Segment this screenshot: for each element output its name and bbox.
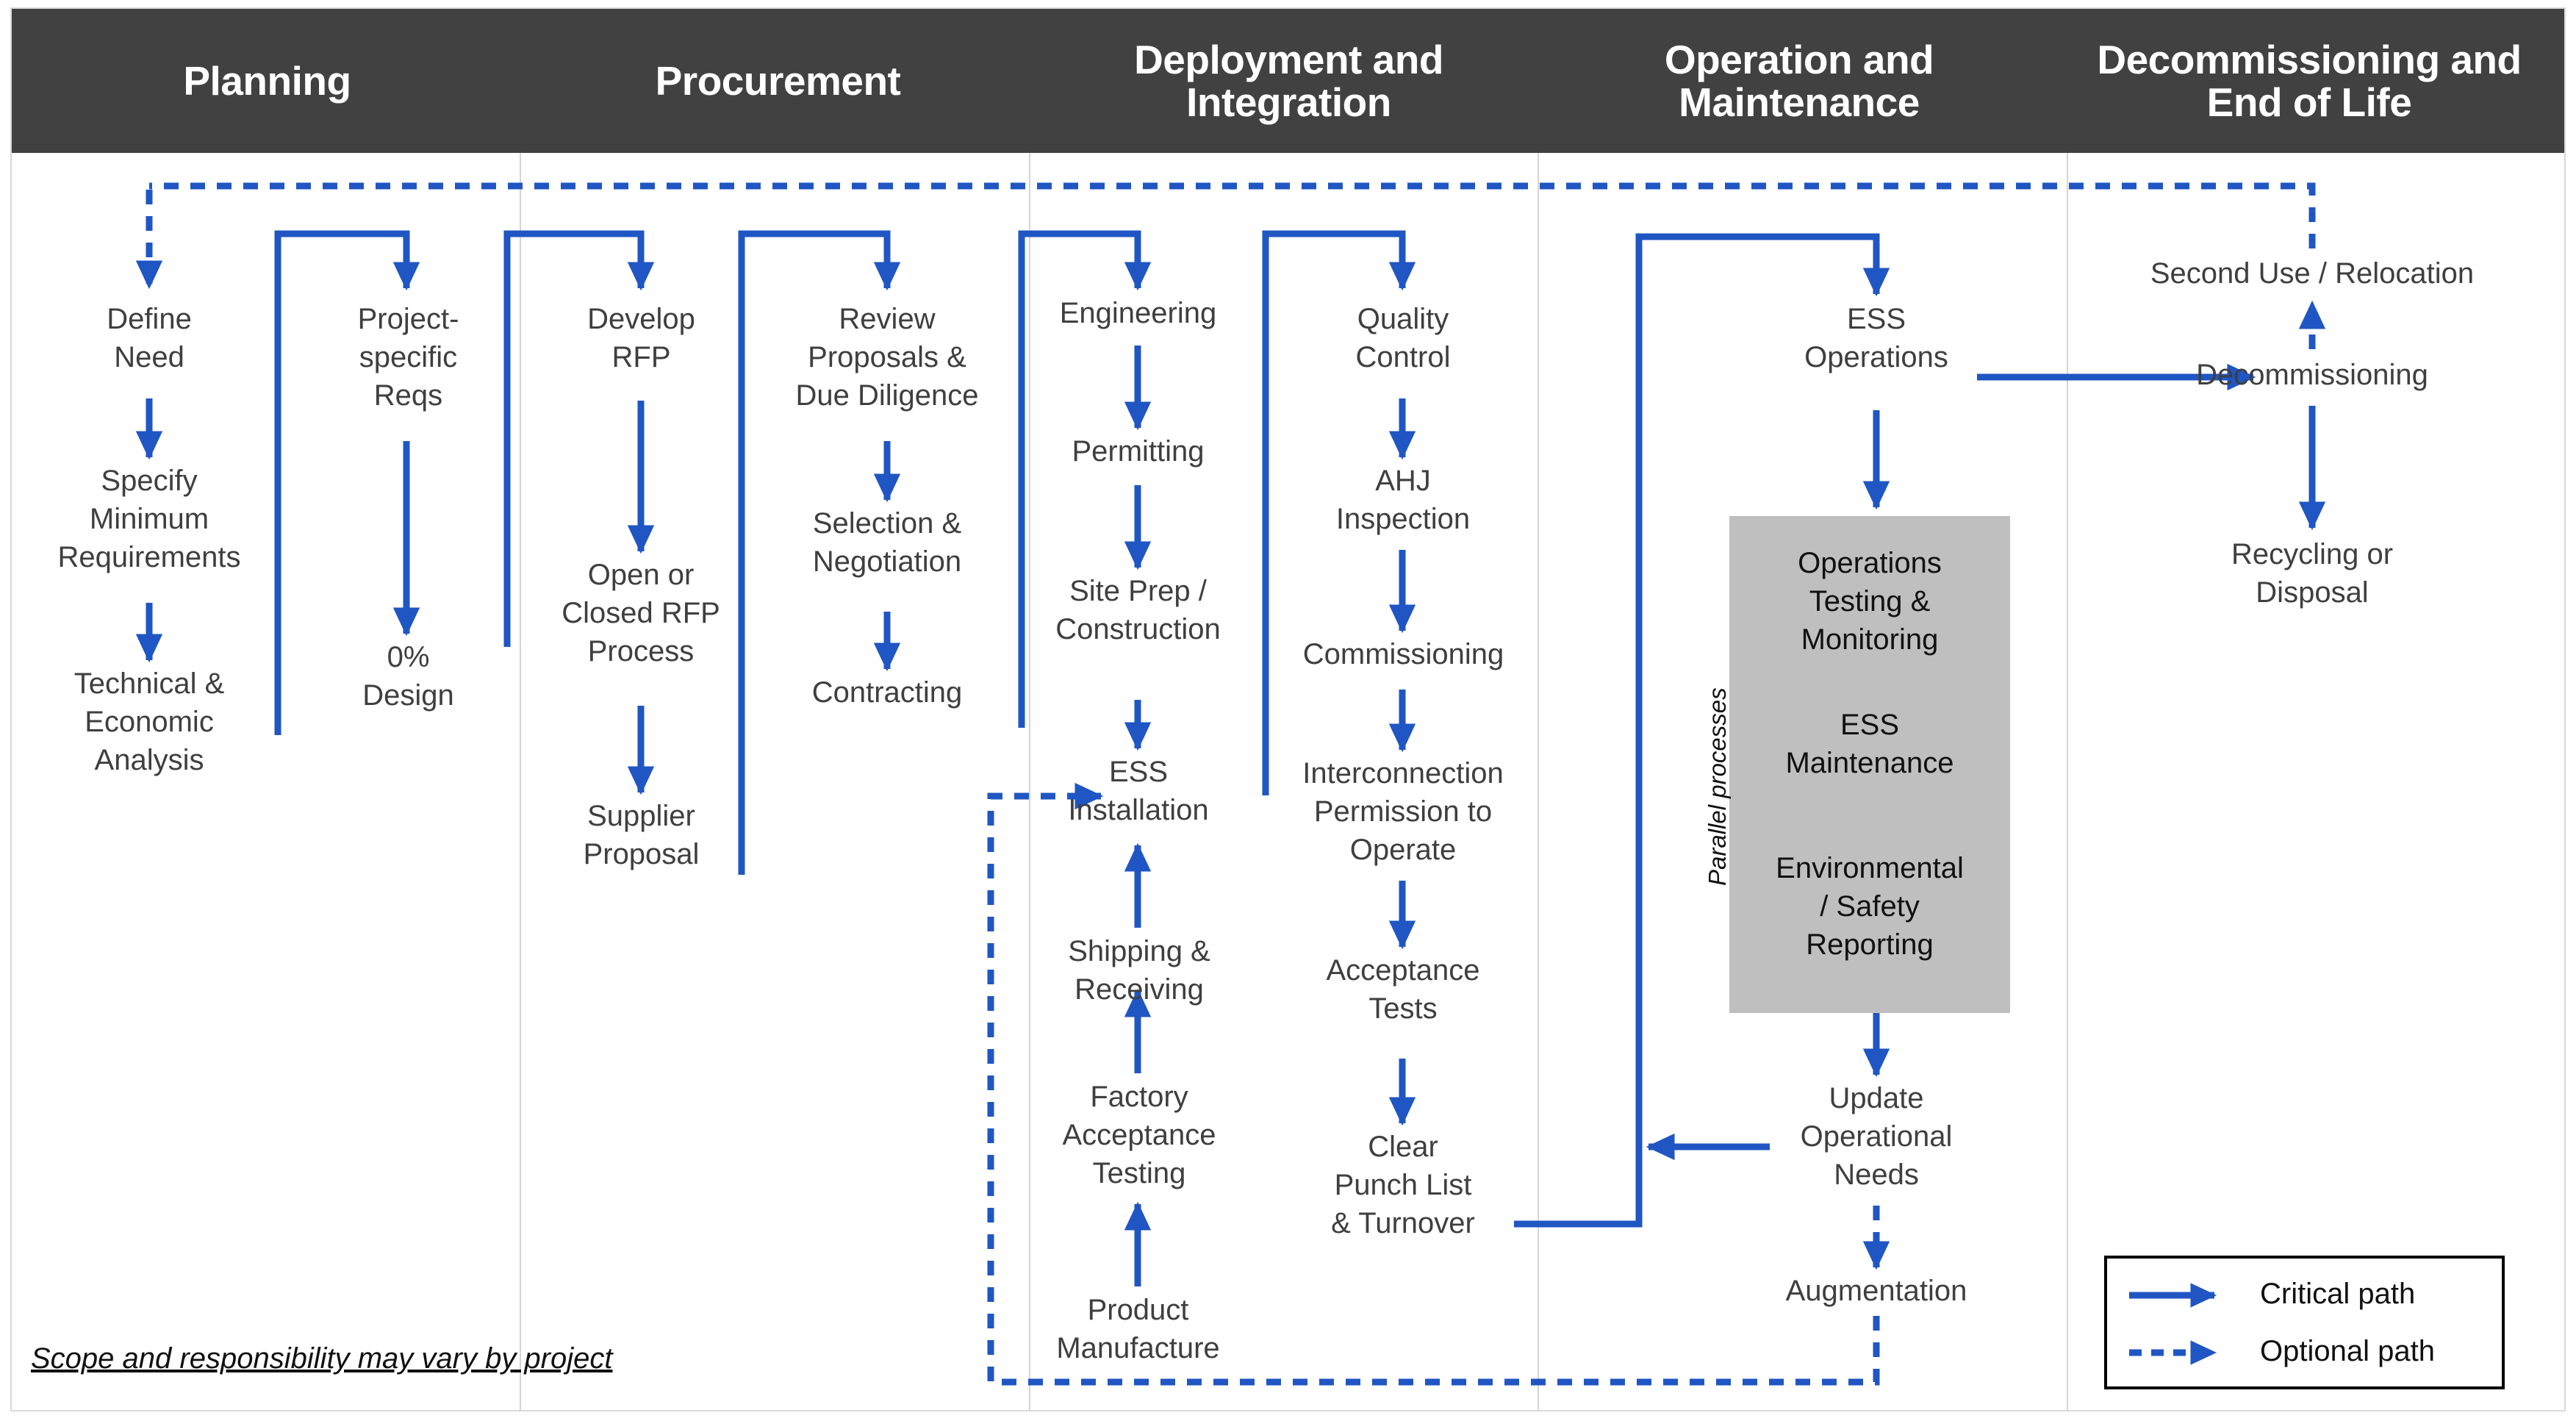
node-environmental-safety-reporting[interactable]: Environmental / Safety Reporting: [1744, 849, 1995, 964]
node-develop-rfp[interactable]: Develop RFP: [544, 300, 739, 376]
phase-header-deployment[interactable]: Deployment and Integration: [1033, 9, 1544, 153]
node-update-operational-needs[interactable]: Update Operational Needs: [1766, 1079, 1987, 1194]
phase-header-procurement[interactable]: Procurement: [523, 9, 1033, 153]
node-site-prep-construction[interactable]: Site Prep / Construction: [1026, 572, 1250, 648]
node-review-proposals-due-diligence[interactable]: Review Proposals & Due Diligence: [766, 300, 1008, 415]
footnote-scope-responsibility: Scope and responsibility may vary by pro…: [31, 1342, 612, 1375]
legend-label-optional-path: Optional path: [2260, 1335, 2435, 1368]
node-selection-negotiation[interactable]: Selection & Negotiation: [773, 504, 1001, 581]
node-project-specific-reqs[interactable]: Project- specific Reqs: [315, 300, 502, 415]
legend-label-critical-path: Critical path: [2260, 1278, 2415, 1311]
node-operations-testing-monitoring[interactable]: Operations Testing & Monitoring: [1744, 544, 1995, 659]
node-contracting[interactable]: Contracting: [773, 673, 1001, 712]
phase-header-band: Planning Procurement Deployment and Inte…: [12, 9, 2564, 153]
node-permitting[interactable]: Permitting: [1026, 432, 1250, 470]
node-ess-installation[interactable]: ESS Installation: [1039, 753, 1238, 829]
node-supplier-proposal[interactable]: Supplier Proposal: [544, 797, 739, 873]
phase-header-operation[interactable]: Operation and Maintenance: [1544, 9, 2054, 153]
node-ess-operations[interactable]: ESS Operations: [1777, 300, 1976, 376]
legend-box: Critical path Optional path: [2104, 1256, 2505, 1389]
node-technical-economic-analysis[interactable]: Technical & Economic Analysis: [28, 665, 270, 779]
node-ahj-inspection[interactable]: AHJ Inspection: [1307, 462, 1499, 538]
node-commissioning[interactable]: Commissioning: [1277, 635, 1530, 673]
lane-divider-procurement-deployment: [1029, 153, 1030, 1411]
node-second-use-relocation[interactable]: Second Use / Relocation: [2099, 254, 2525, 293]
node-acceptance-tests[interactable]: Acceptance Tests: [1294, 951, 1513, 1028]
lane-divider-planning-procurement: [520, 153, 521, 1411]
node-clear-punch-list-turnover[interactable]: Clear Punch List & Turnover: [1294, 1128, 1513, 1242]
node-engineering[interactable]: Engineering: [1026, 294, 1250, 332]
flowchart-canvas: Planning Procurement Deployment and Inte…: [0, 0, 2576, 1421]
node-recycling-or-disposal[interactable]: Recycling or Disposal: [2153, 535, 2471, 612]
node-interconnection-permission-to-operate[interactable]: Interconnection Permission to Operate: [1272, 754, 1534, 869]
lane-divider-deployment-operation: [1538, 153, 1539, 1411]
phase-header-decommissioning[interactable]: Decommissioning and End of Life: [2054, 9, 2564, 153]
node-quality-control[interactable]: Quality Control: [1307, 300, 1499, 376]
node-define-need[interactable]: Define Need: [50, 300, 248, 376]
node-specify-minimum-requirements[interactable]: Specify Minimum Requirements: [28, 462, 270, 576]
parallel-processes-label: Parallel processes: [1704, 687, 1732, 886]
node-ess-maintenance[interactable]: ESS Maintenance: [1744, 706, 1995, 782]
node-open-or-closed-rfp-process[interactable]: Open or Closed RFP Process: [531, 556, 751, 670]
node-zero-percent-design[interactable]: 0% Design: [315, 638, 502, 715]
lane-divider-operation-decommissioning: [2067, 153, 2068, 1411]
node-shipping-receiving[interactable]: Shipping & Receiving: [1033, 932, 1246, 1009]
phase-header-planning[interactable]: Planning: [12, 9, 523, 153]
node-factory-acceptance-testing[interactable]: Factory Acceptance Testing: [1033, 1078, 1246, 1192]
node-product-manufacture[interactable]: Product Manufacture: [1026, 1291, 1250, 1367]
node-augmentation[interactable]: Augmentation: [1759, 1272, 1994, 1310]
node-decommissioning[interactable]: Decommissioning: [2124, 356, 2500, 394]
